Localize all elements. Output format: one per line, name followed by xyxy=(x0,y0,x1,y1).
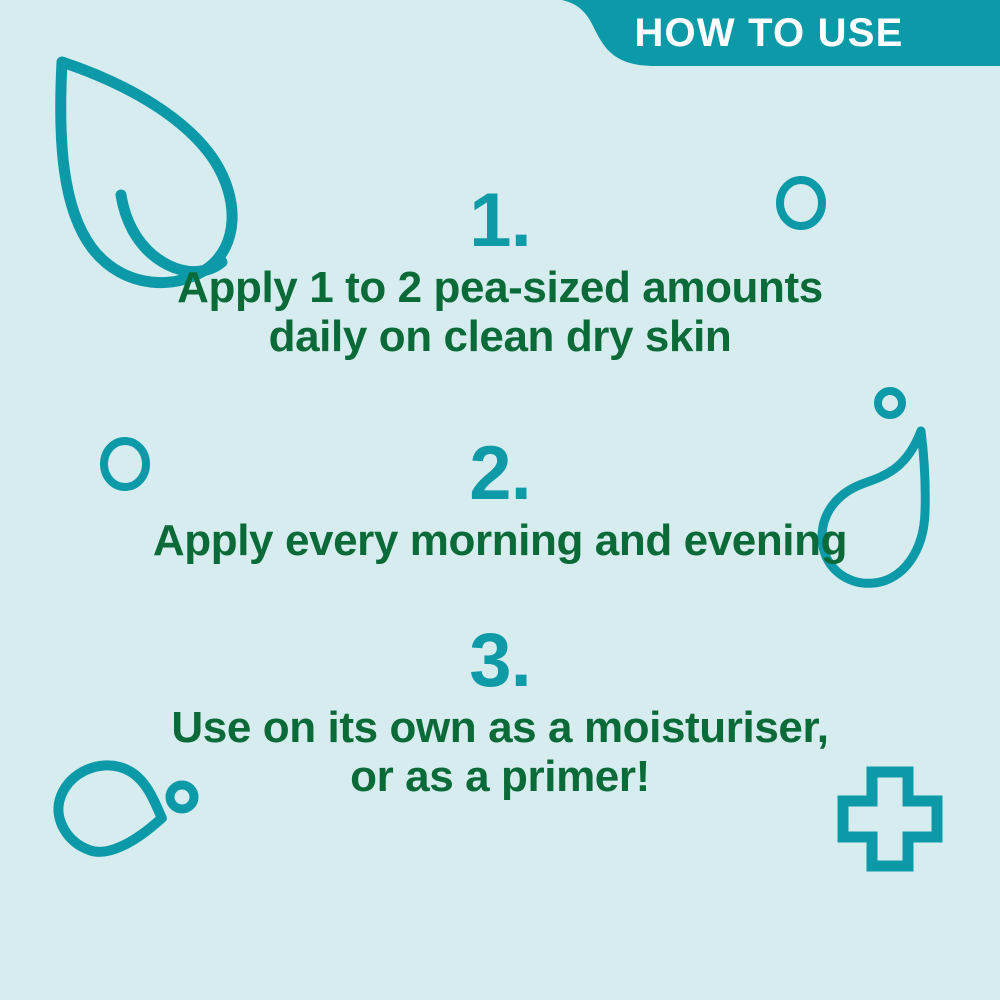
step-text-3: Use on its own as a moisturiser, or as a… xyxy=(0,703,1000,802)
step-number-2: 2. xyxy=(0,438,1000,510)
step-item-2: 2. Apply every morning and evening xyxy=(0,438,1000,565)
step-item-3: 3. Use on its own as a moisturiser, or a… xyxy=(0,625,1000,802)
step-text-2: Apply every morning and evening xyxy=(0,516,1000,565)
steps-list: 1. Apply 1 to 2 pea-sized amounts daily … xyxy=(0,0,1000,1000)
step-number-1: 1. xyxy=(0,185,1000,257)
how-to-use-poster: HOW TO USE 1. Apply 1 to 2 pea-sized amo… xyxy=(0,0,1000,1000)
step-text-1: Apply 1 to 2 pea-sized amounts daily on … xyxy=(0,263,1000,362)
step-item-1: 1. Apply 1 to 2 pea-sized amounts daily … xyxy=(0,185,1000,362)
step-number-3: 3. xyxy=(0,625,1000,697)
page-title: HOW TO USE xyxy=(580,0,1000,66)
